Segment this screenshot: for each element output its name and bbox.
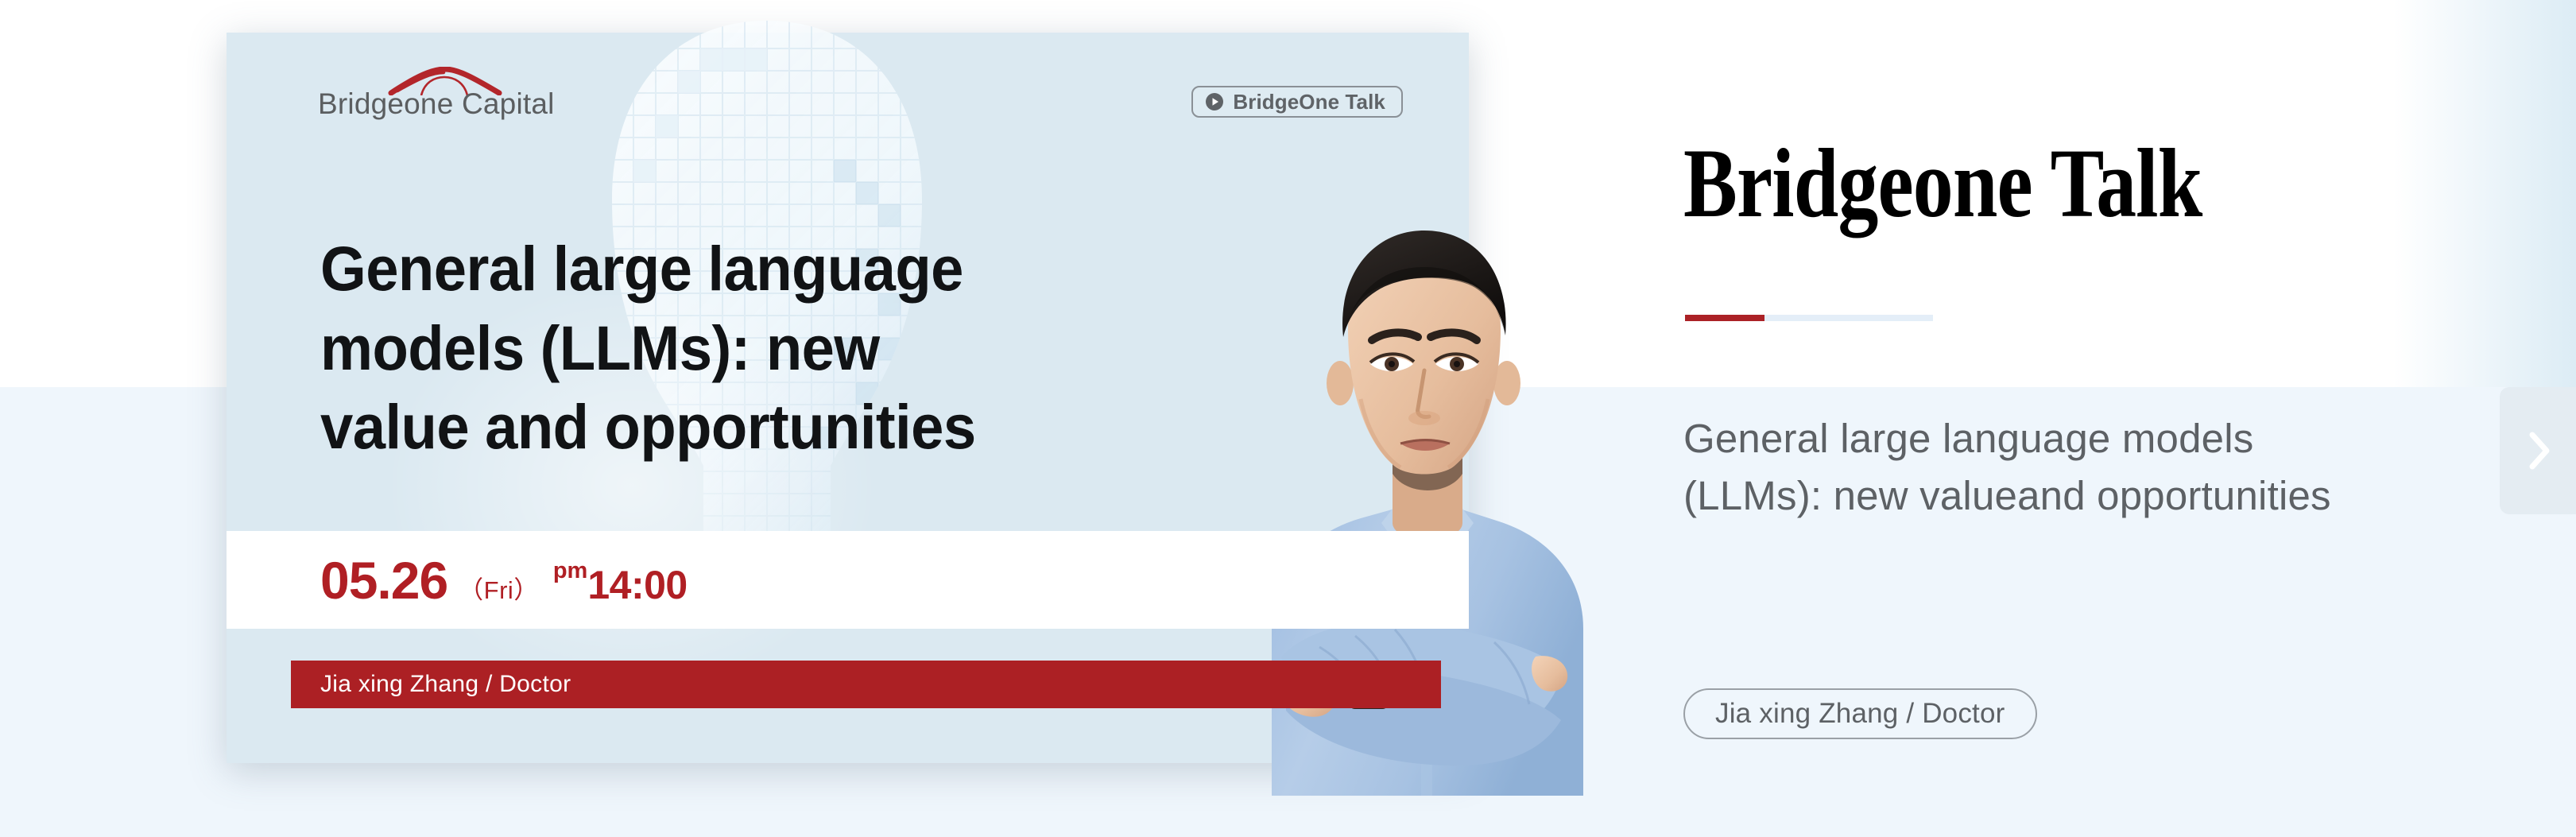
page-background-right-tint xyxy=(2393,0,2576,387)
panel-subtitle: General large language models (LLMs): ne… xyxy=(1683,410,2335,525)
slide-info-panel: Bridgeone Talk General large language mo… xyxy=(1683,0,2399,837)
panel-heading: Bridgeone Talk xyxy=(1683,127,2202,240)
play-circle-icon xyxy=(1205,92,1224,111)
poster-title: General large language models (LLMs): ne… xyxy=(320,229,1008,467)
bridgeone-talk-badge-label: BridgeOne Talk xyxy=(1233,90,1385,114)
speaker-pill-button[interactable]: Jia xing Zhang / Doctor xyxy=(1683,688,2037,739)
carousel-next-button[interactable] xyxy=(2500,387,2576,514)
slide-stage: Bridgeone Capital BridgeOne Talk General… xyxy=(0,0,2576,837)
brand-logo[interactable]: Bridgeone Capital xyxy=(318,67,580,122)
panel-divider-track xyxy=(1764,315,1933,321)
time-meridiem: pm xyxy=(553,558,588,584)
date-weekday: （Fri） xyxy=(459,570,539,606)
panel-divider xyxy=(1685,315,1933,321)
panel-divider-accent xyxy=(1685,315,1764,321)
speaker-bar-label: Jia xing Zhang / Doctor xyxy=(320,671,571,698)
time-value: 14:00 xyxy=(587,562,687,608)
event-poster-card[interactable]: Bridgeone Capital BridgeOne Talk General… xyxy=(227,33,1469,763)
date-number: 05.26 xyxy=(320,550,447,610)
date-strip: 05.26 （Fri） pm 14:00 xyxy=(227,531,1469,629)
chevron-right-icon xyxy=(2524,430,2552,471)
date-inner: 05.26 （Fri） pm 14:00 xyxy=(320,550,688,610)
bridgeone-talk-badge[interactable]: BridgeOne Talk xyxy=(1191,86,1403,118)
speaker-bar: Jia xing Zhang / Doctor xyxy=(291,661,1441,708)
brand-logo-text: Bridgeone Capital xyxy=(318,87,580,121)
